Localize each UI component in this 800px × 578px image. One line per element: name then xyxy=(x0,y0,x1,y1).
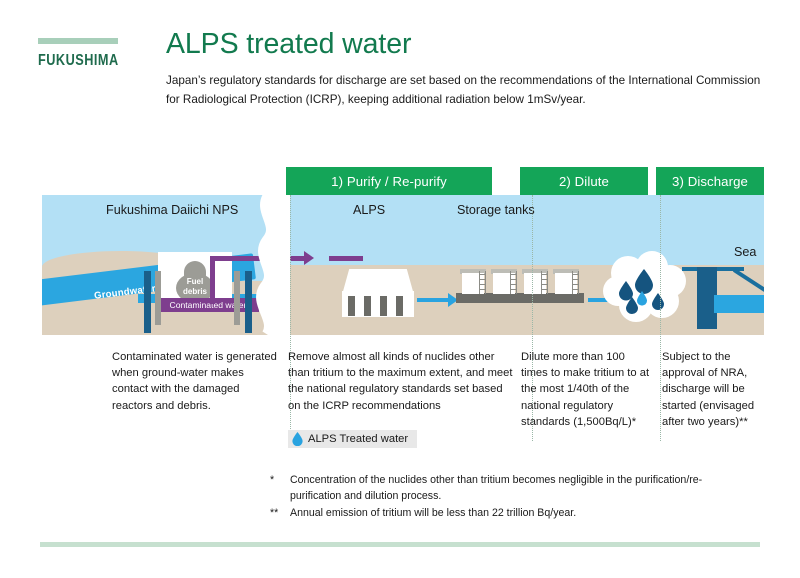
alps-treated-water-badge: ALPS Treated water xyxy=(288,430,417,448)
alps-column-cap-2 xyxy=(362,292,372,296)
brand-name: FUKUSHIMA xyxy=(38,52,128,70)
footnote-row: * Concentration of the nuclides other th… xyxy=(270,473,750,505)
alps-column-cap-4 xyxy=(394,292,404,296)
well-pipe-2 xyxy=(155,271,161,325)
label-storage-tanks: Storage tanks xyxy=(457,203,535,217)
alps-column-4 xyxy=(396,295,403,316)
stage-bar-discharge: 3) Discharge xyxy=(656,167,764,195)
brand-accent-bar xyxy=(38,38,118,44)
label-fukushima-daiichi-nps: Fukushima Daiichi NPS xyxy=(106,203,238,217)
flow-arrow-alps-to-tanks-icon xyxy=(417,298,449,302)
footnote-mark: * xyxy=(270,473,284,505)
well-pipe-1 xyxy=(144,271,151,333)
tank-ladder-2 xyxy=(510,271,517,294)
page-subtitle: Japan’s regulatory standards for dischar… xyxy=(166,72,761,110)
column-text-discharge: Subject to the approval of NRA, discharg… xyxy=(662,349,774,430)
tank-ladder-1 xyxy=(479,271,486,294)
alps-column-2 xyxy=(364,295,371,316)
page-title: ALPS treated water xyxy=(166,30,766,60)
infographic-page: FUKUSHIMA ALPS treated water Japan’s reg… xyxy=(0,0,800,578)
tank-ladder-4 xyxy=(572,271,579,294)
transfer-pipe-vertical xyxy=(210,256,215,304)
footnotes: * Concentration of the nuclides other th… xyxy=(270,473,750,523)
alps-column-cap-1 xyxy=(346,292,356,296)
sea-surface-waves xyxy=(714,291,764,299)
well-pipe-4 xyxy=(245,271,252,333)
transfer-pipe-to-alps xyxy=(329,256,363,261)
text-column-separator-3 xyxy=(660,195,661,441)
bottom-divider xyxy=(40,542,760,547)
stage-bar-purify: 1) Purify / Re-purify xyxy=(286,167,492,195)
label-sea: Sea xyxy=(734,245,756,259)
water-drop-icon xyxy=(292,432,303,446)
column-text-contaminated-water: Contaminated water is generated when gro… xyxy=(112,349,282,414)
column-text-dilute: Dilute more than 100 times to make triti… xyxy=(521,349,654,430)
contaminated-water-label: Contaminated water xyxy=(157,298,259,312)
dilution-cloud-icon xyxy=(602,251,688,323)
footnote-text: Annual emission of tritium will be less … xyxy=(290,506,750,522)
stage-header-bars: 1) Purify / Re-purify 2) Dilute 3) Disch… xyxy=(286,167,764,195)
footnote-row: ** Annual emission of tritium will be le… xyxy=(270,506,750,522)
tank-platform xyxy=(456,293,584,303)
tank-ladder-3 xyxy=(541,271,548,294)
column-text-purify: Remove almost all kinds of nuclides othe… xyxy=(288,349,513,414)
alps-treated-water-badge-label: ALPS Treated water xyxy=(308,433,408,445)
alps-column-1 xyxy=(348,295,355,316)
alps-column-cap-3 xyxy=(378,292,388,296)
alps-column-3 xyxy=(380,295,387,316)
process-diagram: Groundwater Fuel debris Contaminated wat… xyxy=(42,195,764,335)
stage-bar-dilute: 2) Dilute xyxy=(520,167,648,195)
footnote-mark: ** xyxy=(270,506,284,522)
wavy-divider xyxy=(252,195,290,335)
well-pipe-3 xyxy=(234,271,240,325)
fuel-debris-label: Fuel debris xyxy=(176,277,214,297)
transfer-pipe-arrow-icon xyxy=(304,251,314,265)
footnote-text: Concentration of the nuclides other than… xyxy=(290,473,750,505)
header: ALPS treated water Japan’s regulatory st… xyxy=(166,30,766,110)
label-alps: ALPS xyxy=(353,203,385,217)
brand-logo: FUKUSHIMA xyxy=(38,38,148,70)
